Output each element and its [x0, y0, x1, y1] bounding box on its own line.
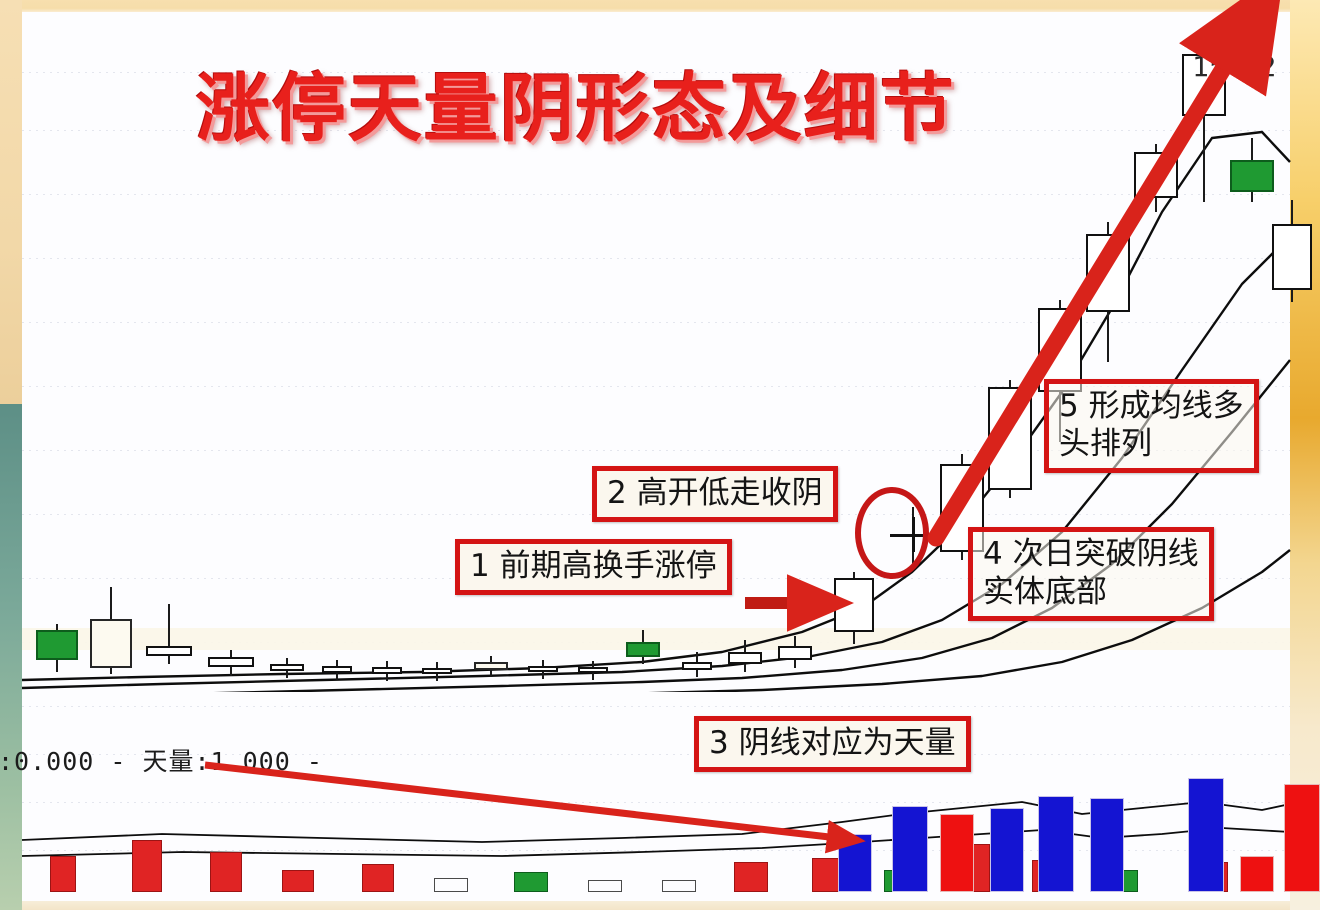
candle-body-hollow: [778, 646, 812, 660]
page-edge-right: [1290, 0, 1320, 910]
volume-chart-pane: [22, 692, 1290, 901]
annotation-box-1: 1 前期高换手涨停: [455, 539, 732, 595]
volume-bar: [662, 880, 696, 892]
volume-indicator-label: :0.000 - 天量:1.000 -: [0, 742, 323, 778]
candlestick: [372, 661, 402, 681]
candlestick: [1272, 200, 1312, 302]
doji-highlight-ellipse: [855, 487, 929, 579]
candlestick: [1086, 222, 1130, 362]
volume-bar: [434, 878, 468, 892]
candlestick: [208, 650, 254, 676]
chart-screenshot: 涨停天量阴形态及细节 米 5 米 米 米 5 米 米 涨停天量阴形态及细节 15…: [0, 0, 1320, 910]
candlestick: [682, 652, 712, 677]
volume-bar: [1240, 856, 1274, 892]
candlestick: [322, 660, 352, 680]
volume-bar: [50, 856, 76, 892]
volume-bar: [588, 880, 622, 892]
annotation-box-2: 2 高开低走收阴: [592, 466, 838, 522]
candlestick: [146, 604, 192, 664]
page-edge-left-lower: [0, 404, 22, 910]
annotation-box-4: 4 次日突破阴线 实体底部: [968, 527, 1214, 621]
volume-bar: [734, 862, 768, 892]
volume-bar: [362, 864, 394, 892]
volume-gridline: [22, 706, 1290, 707]
candle-body-cream: [474, 662, 508, 670]
volume-bar: [210, 852, 242, 892]
page-edge-left-upper: [0, 0, 22, 404]
candlestick: [626, 630, 660, 664]
volume-bar: [838, 834, 872, 892]
candlestick: [728, 640, 762, 672]
candle-body-hollow: [422, 668, 452, 674]
candlestick: [988, 380, 1032, 498]
candle-body-green: [36, 630, 78, 660]
candle-body-hollow: [372, 667, 402, 674]
volume-bar: [1188, 778, 1224, 892]
volume-bar: [132, 840, 162, 892]
candlestick: [778, 636, 812, 668]
volume-bar: [514, 872, 548, 892]
candlestick: [90, 587, 132, 674]
candlestick: [834, 572, 874, 644]
volume-bar: [282, 870, 314, 892]
annotation-box-3: 3 阴线对应为天量: [694, 716, 971, 772]
candle-body-hollow: [728, 652, 762, 664]
volume-bar: [940, 814, 974, 892]
candle-body-hollow: [834, 578, 874, 632]
candle-body-hollow: [1134, 152, 1178, 198]
candle-body-hollow: [146, 646, 192, 656]
candlestick: [36, 624, 78, 672]
page-edge-bottom: [22, 901, 1290, 910]
candlestick: [1134, 144, 1178, 212]
volume-bar: [1284, 784, 1320, 892]
page-title: 涨停天量阴形态及细节: [196, 72, 956, 146]
candle-body-hollow: [208, 657, 254, 667]
volume-bar: [1038, 796, 1074, 892]
candle-body-hollow: [1086, 234, 1130, 312]
candle-body-hollow: [1272, 224, 1312, 290]
candlestick: [1230, 138, 1274, 202]
candlestick: [578, 661, 608, 680]
price-axis-tag: 15.02: [1192, 50, 1276, 83]
candle-body-hollow: [322, 666, 352, 673]
candlestick: [474, 656, 508, 677]
volume-bar: [990, 808, 1024, 892]
candlestick: [422, 662, 452, 681]
candlestick: [528, 660, 558, 679]
candle-body-cream: [90, 619, 132, 668]
candle-body-hollow: [528, 666, 558, 672]
candle-body-hollow: [682, 662, 712, 670]
candlestick: [270, 658, 304, 678]
annotation-box-5: 5 形成均线多 头排列: [1044, 379, 1259, 473]
volume-bar: [1090, 798, 1124, 892]
candle-body-hollow: [270, 664, 304, 671]
page-edge-top: [22, 0, 1290, 12]
candle-body-hollow: [988, 387, 1032, 490]
candle-body-hollow: [578, 667, 608, 673]
candle-body-green: [1230, 160, 1274, 192]
candle-body-green: [626, 642, 660, 657]
price-gridline: [22, 194, 1290, 195]
volume-bar: [892, 806, 928, 892]
